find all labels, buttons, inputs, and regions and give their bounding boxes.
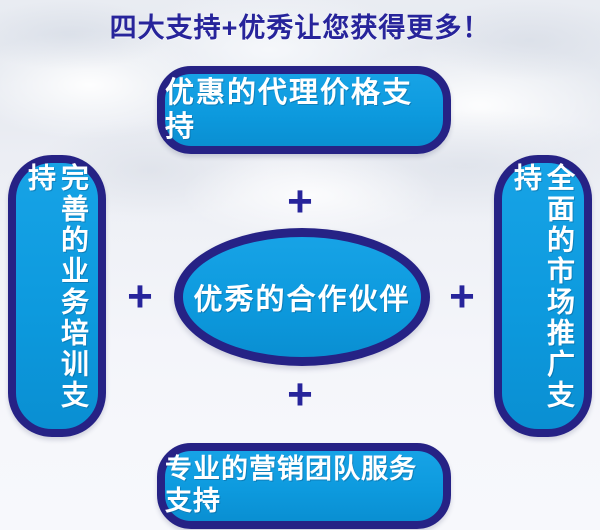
support-box-pricing: 优惠的代理价格支持: [157, 66, 451, 154]
support-box-training: 完善的业务培训支持: [8, 155, 106, 437]
poster-canvas: 四大支持+优秀让您获得更多！ 优惠的代理价格支持 完善的业务培训支持 全面的市场…: [0, 0, 600, 530]
support-box-sales-service: 专业的营销团队服务支持: [157, 443, 451, 529]
plus-sign-left-icon: +: [120, 275, 160, 319]
plus-sign-right-icon: +: [442, 275, 482, 319]
support-box-training-label: 完善的业务培训支持: [24, 163, 90, 429]
center-ellipse-partner: 优秀的合作伙伴: [174, 228, 430, 366]
plus-sign-bottom-icon: +: [280, 373, 320, 417]
support-box-marketing-label: 全面的市场推广支持: [510, 163, 576, 429]
support-box-marketing: 全面的市场推广支持: [494, 155, 592, 437]
poster-title: 四大支持+优秀让您获得更多！: [0, 6, 600, 45]
support-box-pricing-label: 优惠的代理价格支持: [165, 76, 443, 144]
center-ellipse-label: 优秀的合作伙伴: [193, 276, 410, 318]
plus-sign-top-icon: +: [280, 180, 320, 224]
support-box-sales-service-label: 专业的营销团队服务支持: [165, 454, 443, 518]
